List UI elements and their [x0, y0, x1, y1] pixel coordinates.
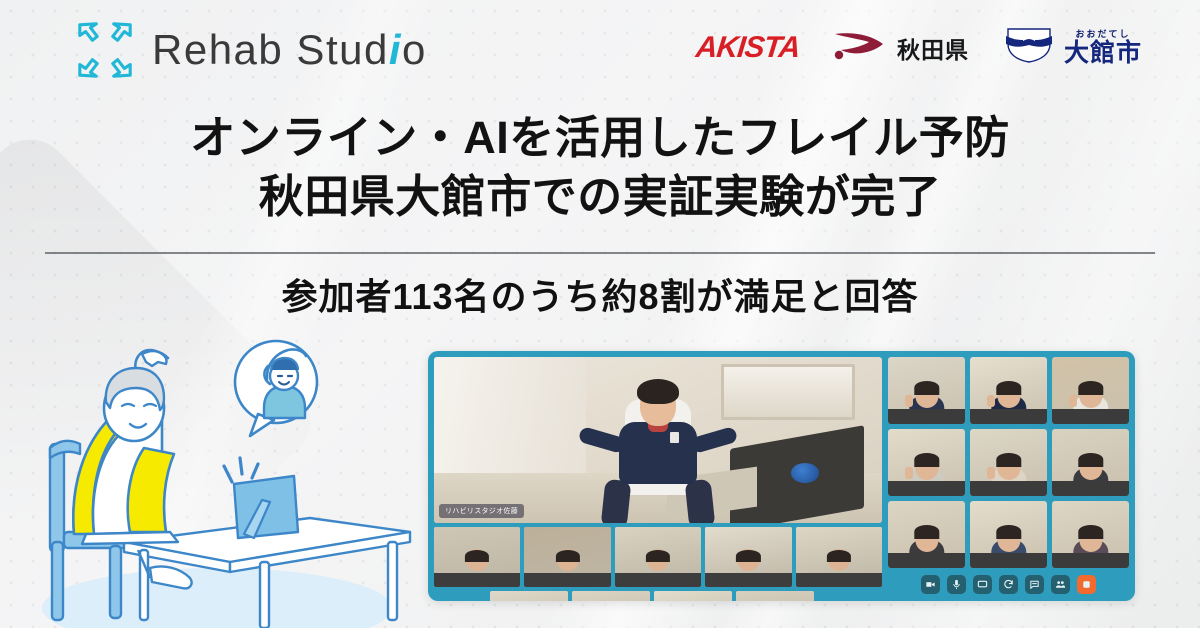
leg-right [685, 478, 716, 523]
thumbs-up-hand [905, 395, 913, 407]
tile-name-bar [1052, 553, 1129, 568]
partner-logo-odate-ruby: おおだてし [1075, 30, 1130, 39]
partner-logo-odate-text: おおだてし 大館市 [1064, 30, 1142, 66]
participant-hair [996, 525, 1021, 538]
vc-participant-tile[interactable] [970, 429, 1047, 496]
vc-toolbar-microphone-icon[interactable] [947, 575, 966, 594]
thumbnail-background [490, 591, 568, 601]
vc-thumbnail-tile[interactable] [524, 527, 610, 587]
participant-hair [1078, 381, 1103, 394]
partner-logos: AKISTA 秋田県 [696, 26, 1142, 69]
hair [637, 379, 679, 404]
participant-hair [1078, 453, 1103, 466]
thumbs-up-hand [905, 467, 913, 479]
partner-logo-akista: AKISTA [694, 31, 801, 65]
tile-name-bar [888, 481, 965, 496]
thumbnail-name-bar [705, 573, 791, 587]
vc-toolbar[interactable] [888, 573, 1129, 595]
vc-thumbnail-tile[interactable] [705, 527, 791, 587]
vc-toolbar-screen-share-icon[interactable] [973, 575, 992, 594]
thumbs-up-hand [1069, 395, 1077, 407]
tablet-device [224, 458, 298, 538]
vc-thumbnail-tile[interactable] [654, 591, 732, 601]
brand-logo[interactable]: Rehab Studio [74, 19, 427, 81]
title-divider [45, 252, 1155, 254]
vc-thumbnail-tile[interactable] [434, 527, 520, 587]
thumbnail-background [736, 591, 814, 601]
partner-logo-odate-label: 大館市 [1064, 41, 1142, 66]
four-inward-arrows-icon [74, 19, 136, 81]
header: Rehab Studio AKISTA 秋田県 [0, 0, 1200, 100]
participant-hair [914, 381, 939, 394]
thumbnail-hair [646, 550, 670, 562]
brand-name-part2: o [402, 26, 427, 73]
vc-speaker-name-badge: リハビリスタジオ佐藤 [439, 504, 524, 518]
thumbnail-hair [556, 550, 580, 562]
vc-main-column: リハビリスタジオ佐藤 [434, 357, 882, 595]
brand-name-accent-i: i [389, 26, 402, 73]
title-line-1: オンライン・AIを活用したフレイル予防 [0, 108, 1200, 167]
partner-logo-akita-label: 秋田県 [897, 31, 969, 65]
vc-thumbnail-tile[interactable] [490, 591, 568, 601]
tile-name-bar [888, 409, 965, 424]
thumbnail-hair [736, 550, 760, 562]
vc-participant-tile[interactable] [970, 501, 1047, 568]
vc-participant-tile[interactable] [1052, 429, 1129, 496]
vc-toolbar-participants-icon[interactable] [1051, 575, 1070, 594]
vc-thumbnail-tile[interactable] [736, 591, 814, 601]
thumbnail-name-bar [524, 573, 610, 587]
tile-name-bar [1052, 481, 1129, 496]
instructor-figure [583, 384, 733, 517]
participant-hair [914, 453, 939, 466]
vc-participant-tile[interactable] [1052, 501, 1129, 568]
page-subtitle: 参加者113名のうち約8割が満足と回答 [0, 268, 1200, 320]
thumbnail-background [654, 591, 732, 601]
senior-stretching-with-tablet-illustration [12, 336, 422, 628]
vc-participant-tile[interactable] [888, 501, 965, 568]
tile-name-bar [970, 553, 1047, 568]
participant-hair [996, 381, 1021, 394]
arm-left [578, 426, 627, 454]
thumbnail-background [572, 591, 650, 601]
partner-logo-akita-prefecture: 秋田県 [833, 28, 969, 67]
vc-toolbar-record-icon[interactable] [1077, 575, 1096, 594]
vc-participant-tile[interactable] [888, 357, 965, 424]
participant-hair [1078, 525, 1103, 538]
page-title: オンライン・AIを活用したフレイル予防 秋田県大館市での実証実験が完了 [0, 108, 1200, 227]
vc-thumbnail-tile[interactable] [615, 527, 701, 587]
vc-gallery-column [888, 357, 1129, 595]
room-window [721, 364, 855, 420]
vc-toolbar-chat-icon[interactable] [1025, 575, 1044, 594]
thumbnail-name-bar [615, 573, 701, 587]
vc-toolbar-reaction-icon[interactable] [999, 575, 1018, 594]
thumbnail-hair [827, 550, 851, 562]
partner-logo-odate-city: おおだてし 大館市 [1003, 26, 1142, 69]
vc-filmstrip-top[interactable] [434, 527, 882, 587]
title-line-2: 秋田県大館市での実証実験が完了 [0, 167, 1200, 226]
thumbs-up-hand [987, 467, 995, 479]
tile-name-bar [1052, 409, 1129, 424]
tile-name-bar [970, 409, 1047, 424]
participant-hair [996, 453, 1021, 466]
vc-filmstrip-bottom[interactable] [434, 591, 882, 601]
vc-toolbar-camera-icon[interactable] [921, 575, 940, 594]
vc-participant-tile[interactable] [970, 357, 1047, 424]
thumbnail-hair [465, 550, 489, 562]
brand-name-part1: Rehab Stud [152, 26, 389, 73]
tile-name-bar [970, 481, 1047, 496]
vc-thumbnail-tile[interactable] [572, 591, 650, 601]
shield-crest-icon [1003, 26, 1055, 69]
participant-hair [914, 525, 939, 538]
thumbnail-name-bar [796, 573, 882, 587]
vc-participant-grid[interactable] [888, 357, 1129, 568]
instructor-video-bubble [235, 341, 317, 436]
leg-left [601, 478, 632, 523]
swoosh-bird-icon [833, 28, 887, 67]
tile-name-bar [888, 553, 965, 568]
vc-participant-tile[interactable] [1052, 357, 1129, 424]
video-conference-screenshot[interactable]: リハビリスタジオ佐藤 [428, 351, 1135, 601]
thumbnail-name-bar [434, 573, 520, 587]
banner-canvas: Rehab Studio AKISTA 秋田県 [0, 0, 1200, 628]
vc-thumbnail-tile[interactable] [796, 527, 882, 587]
name-tag [670, 432, 679, 443]
brand-name: Rehab Studio [152, 26, 427, 74]
vc-active-speaker-tile[interactable]: リハビリスタジオ佐藤 [434, 357, 882, 523]
thumbs-up-hand [987, 395, 995, 407]
vc-participant-tile[interactable] [888, 429, 965, 496]
arm-right [690, 426, 739, 454]
